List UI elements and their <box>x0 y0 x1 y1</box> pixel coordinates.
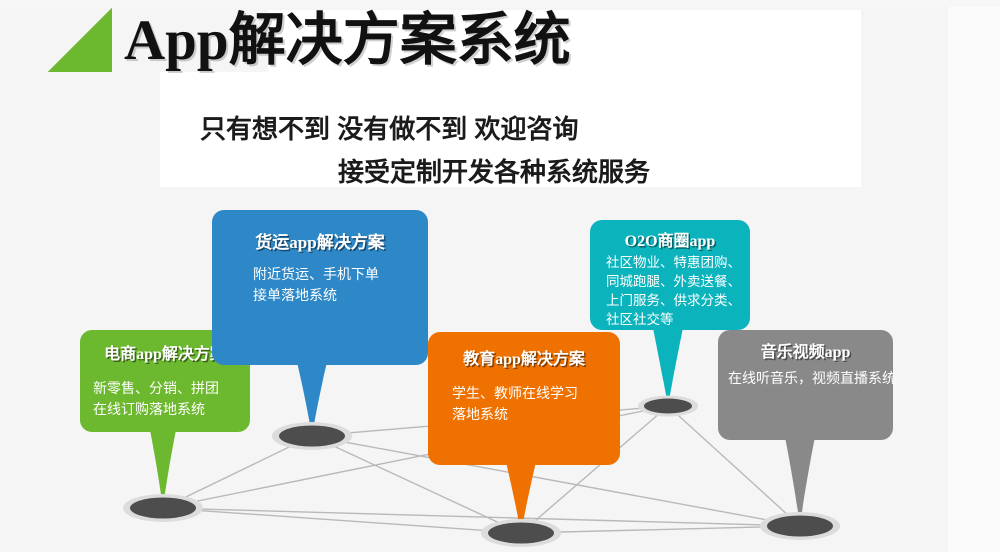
pin-bases <box>0 0 1000 552</box>
slide-canvas: App解决方案系统 只有想不到 没有做不到 欢迎咨询 接受定制开发各种系统服务 … <box>0 0 1000 552</box>
